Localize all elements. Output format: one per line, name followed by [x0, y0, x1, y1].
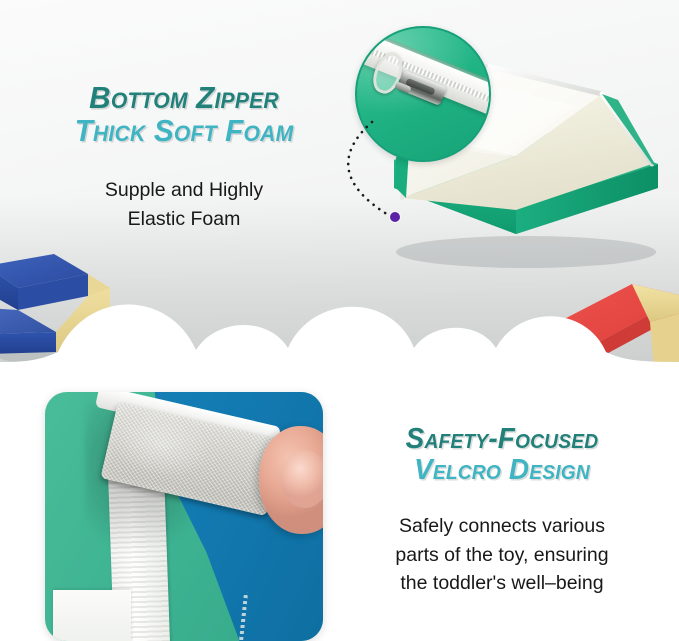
heading-line-1: Bottom Zipper [40, 82, 328, 115]
heading-bottom-zipper: Bottom Zipper Thick Soft Foam [34, 82, 334, 148]
body-copy-bottom-zipper: Supple and Highly Elastic Foam [34, 176, 334, 234]
body-copy-velcro-design: Safely connects various parts of the toy… [340, 512, 664, 598]
body-line-3: the toddler's well–being [340, 569, 664, 598]
body-line-1: Supple and Highly [34, 176, 334, 205]
heading-velcro-design: Safety-Focused Velcro Design [340, 424, 664, 485]
body-line-1: Safely connects various [340, 512, 664, 541]
velcro-closeup-photo [45, 392, 323, 641]
body-line-2: parts of the toy, ensuring [340, 541, 664, 570]
fingernail [281, 450, 323, 508]
body-line-2: Elastic Foam [34, 205, 334, 234]
heading-line-4: Velcro Design [346, 455, 657, 486]
heading-line-2: Thick Soft Foam [40, 115, 328, 148]
heading-line-3: Safety-Focused [346, 424, 657, 455]
callout-anchor-dot [390, 212, 400, 222]
infographic-canvas: Bottom Zipper Thick Soft Foam Supple and… [0, 0, 679, 641]
